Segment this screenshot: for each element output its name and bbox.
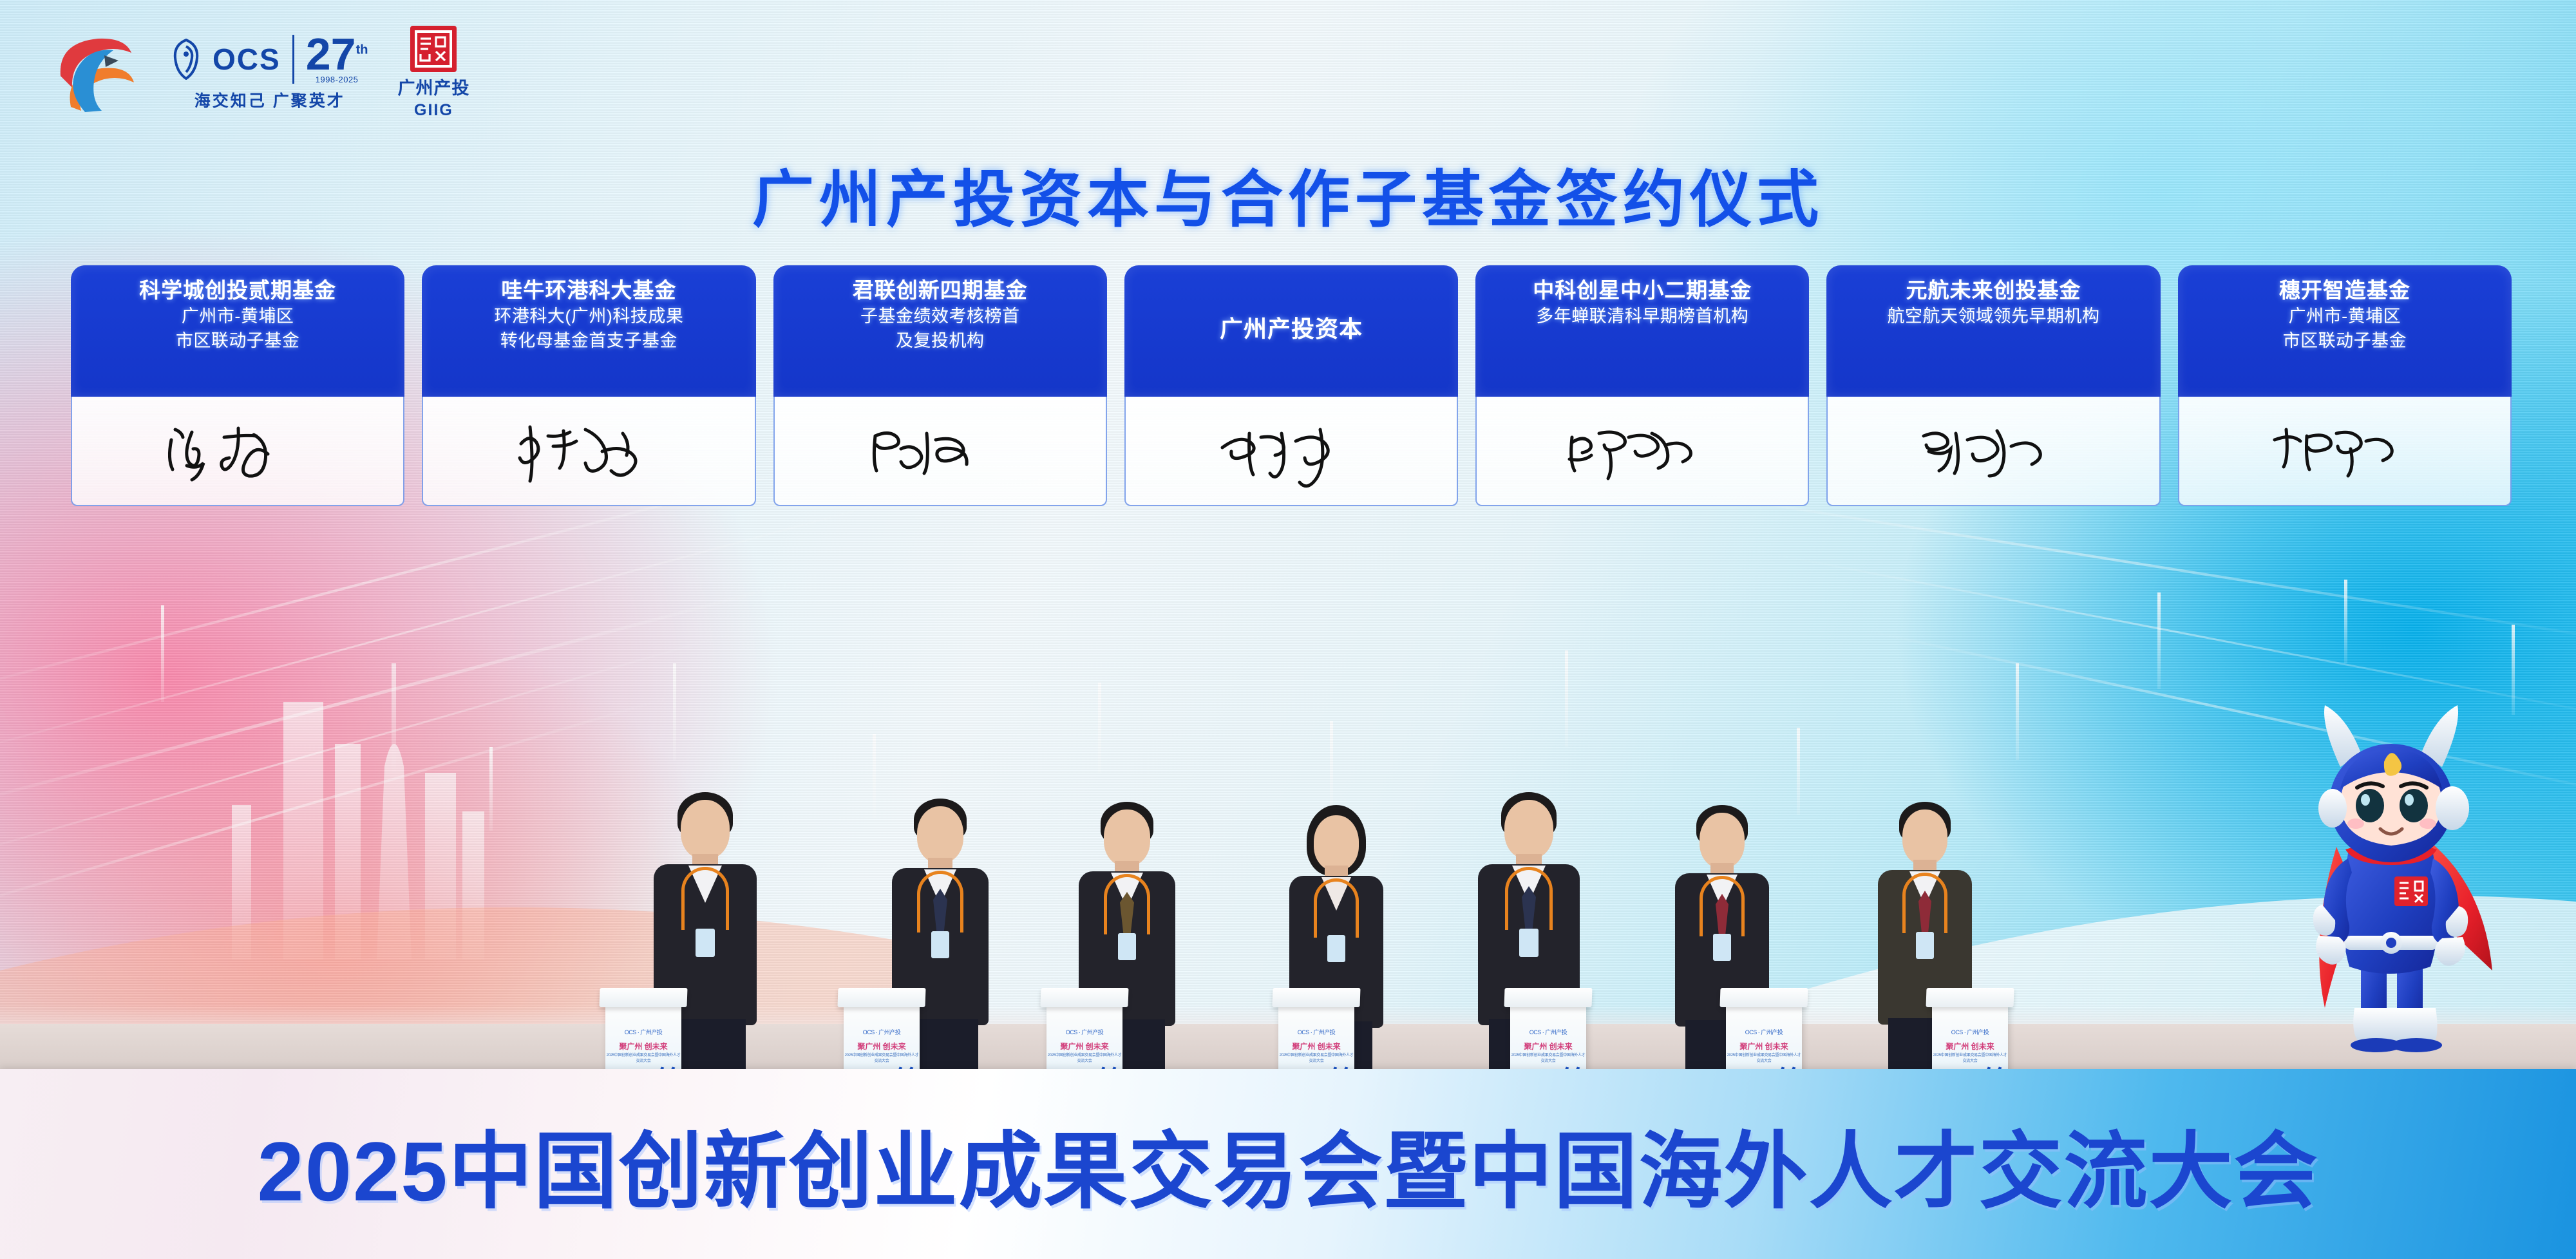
- page-title: 广州产投资本与合作子基金签约仪式: [0, 149, 2576, 239]
- signature-handwritten-1: [157, 414, 318, 491]
- signature-handwritten-6: [1913, 414, 2074, 491]
- signature-handwritten-4: [1211, 414, 1372, 491]
- fund-card-1: 科学城创投贰期基金 广州市-黄埔区 市区联动子基金: [71, 265, 404, 506]
- giic-logo: 广州产投 GIIG: [397, 26, 469, 120]
- podium-slogan: 聚广州 创未来: [844, 1041, 920, 1052]
- signature-panel: [773, 397, 1107, 506]
- podium-sub: 2025中国创新创业成果交易会暨中国海外人才交流大会: [844, 1052, 920, 1063]
- podium-sub: 2025中国创新创业成果交易会暨中国海外人才交流大会: [1726, 1052, 1802, 1063]
- fund-sub-line-1: 广州市-黄埔区: [2289, 305, 2401, 328]
- podium-sub: 2025中国创新创业成果交易会暨中国海外人才交流大会: [1510, 1052, 1586, 1063]
- superhero-mascot: [2273, 692, 2505, 1092]
- podium-slogan: 聚广州 创未来: [1932, 1041, 2008, 1052]
- fund-sub-line-1: 广州市-黄埔区: [182, 305, 294, 328]
- fund-card-header: 君联创新四期基金 子基金绩效考核榜首 及复投机构: [773, 265, 1107, 397]
- event-stage-photo: OCS 27th 1998-2025 海交知己 广聚英才 广州产投: [0, 0, 2576, 1259]
- signature-panel: [2178, 397, 2512, 506]
- fund-card-header: 科学城创投贰期基金 广州市-黄埔区 市区联动子基金: [71, 265, 404, 397]
- podium-slogan: 聚广州 创未来: [1278, 1041, 1354, 1052]
- fund-title: 哇牛环港科大基金: [501, 277, 676, 303]
- fund-title: 科学城创投贰期基金: [139, 277, 336, 303]
- fund-sub-line-1: 航空航天领域领先早期机构: [1888, 305, 2100, 328]
- signature-panel: [1124, 397, 1458, 506]
- fund-sub-line-2: 转化母基金首支子基金: [500, 330, 677, 352]
- podium-logo-strip: OCS · 广州产投: [605, 1028, 681, 1036]
- podium-logo-strip: OCS · 广州产投: [844, 1028, 920, 1036]
- fund-sub-line-2: 市区联动子基金: [2283, 330, 2407, 352]
- giic-en-name: GIIG: [414, 101, 453, 120]
- fund-sub-line-1: 多年蝉联清科早期榜首机构: [1536, 305, 1748, 328]
- podium-slogan: 聚广州 创未来: [1510, 1041, 1586, 1052]
- signature-panel: [1826, 397, 2160, 506]
- podium-slogan: 聚广州 创未来: [1046, 1041, 1122, 1052]
- ocs-anniversary-number: 27: [306, 29, 356, 79]
- event-banner-text: 2025中国创新创业成果交易会暨中国海外人才交流大会: [257, 1104, 2318, 1225]
- ocs-swoosh-logo-icon: [52, 31, 142, 115]
- podium-sub: 2025中国创新创业成果交易会暨中国海外人才交流大会: [1932, 1052, 2008, 1063]
- fund-card-header: 广州产投资本: [1124, 265, 1458, 397]
- giic-cn-name: 广州产投: [397, 74, 469, 99]
- fund-card-5: 中科创星中小二期基金 多年蝉联清科早期榜首机构: [1475, 265, 1809, 506]
- fund-card-3: 君联创新四期基金 子基金绩效考核榜首 及复投机构: [773, 265, 1107, 506]
- podium-logo-strip: OCS · 广州产投: [1932, 1028, 2008, 1036]
- podium-slogan: 聚广州 创未来: [605, 1041, 681, 1052]
- fund-card-header: 穗开智造基金 广州市-黄埔区 市区联动子基金: [2178, 265, 2512, 397]
- fund-title: 中科创星中小二期基金: [1533, 277, 1752, 303]
- podium-sub: 2025中国创新创业成果交易会暨中国海外人才交流大会: [605, 1052, 681, 1063]
- ocs-anniversary-suffix: th: [356, 43, 368, 57]
- logo-bar: OCS 27th 1998-2025 海交知己 广聚英才 广州产投: [52, 26, 469, 120]
- signature-panel: [422, 397, 755, 506]
- fund-card-2: 哇牛环港科大基金 环港科大(广州)科技成果 转化母基金首支子基金: [422, 265, 755, 506]
- ocs-bird-icon: [171, 39, 201, 80]
- fund-title: 穗开智造基金: [2279, 277, 2410, 303]
- fund-card-4: 广州产投资本: [1124, 265, 1458, 506]
- signature-handwritten-7: [2264, 414, 2425, 491]
- fund-sub-line-1: 环港科大(广州)科技成果: [494, 305, 683, 328]
- fund-sub-line-2: 及复投机构: [896, 330, 985, 352]
- fund-card-header: 哇牛环港科大基金 环港科大(广州)科技成果 转化母基金首支子基金: [422, 265, 755, 397]
- fund-card-7: 穗开智造基金 广州市-黄埔区 市区联动子基金: [2178, 265, 2512, 506]
- podium-sub: 2025中国创新创业成果交易会暨中国海外人才交流大会: [1278, 1052, 1354, 1063]
- podium-sub: 2025中国创新创业成果交易会暨中国海外人才交流大会: [1046, 1052, 1122, 1063]
- podium-logo-strip: OCS · 广州产投: [1726, 1028, 1802, 1036]
- event-banner: 2025中国创新创业成果交易会暨中国海外人才交流大会: [0, 1069, 2576, 1259]
- podium-slogan: 聚广州 创未来: [1726, 1041, 1802, 1052]
- fund-title: 广州产投资本: [1220, 314, 1363, 343]
- fund-sub-line-2: 市区联动子基金: [176, 330, 300, 352]
- logo-divider: [292, 35, 294, 84]
- podium-logo-strip: OCS · 广州产投: [1510, 1028, 1586, 1036]
- podium-logo-strip: OCS · 广州产投: [1278, 1028, 1354, 1036]
- signature-handwritten-5: [1562, 414, 1723, 491]
- fund-title: 君联创新四期基金: [853, 277, 1028, 303]
- fund-sub-line-1: 子基金绩效考核榜首: [860, 305, 1020, 328]
- fund-signing-cards: 科学城创投贰期基金 广州市-黄埔区 市区联动子基金 哇牛环港科大: [71, 265, 2512, 506]
- ocs-abbr: OCS: [213, 44, 281, 74]
- signature-handwritten-2: [508, 414, 669, 491]
- fund-card-6: 元航未来创投基金 航空航天领域领先早期机构: [1826, 265, 2160, 506]
- signature-panel: [71, 397, 404, 506]
- ocs-slogan: 海交知己 广聚英才: [194, 88, 345, 111]
- signature-handwritten-3: [860, 414, 1021, 491]
- giic-seal-icon: [410, 26, 457, 72]
- podium-logo-strip: OCS · 广州产投: [1046, 1028, 1122, 1036]
- ocs-27th-logo: OCS 27th 1998-2025 海交知己 广聚英才: [171, 34, 368, 111]
- fund-title: 元航未来创投基金: [1906, 277, 2081, 303]
- fund-card-header: 元航未来创投基金 航空航天领域领先早期机构: [1826, 265, 2160, 397]
- signature-panel: [1475, 397, 1809, 506]
- fund-card-header: 中科创星中小二期基金 多年蝉联清科早期榜首机构: [1475, 265, 1809, 397]
